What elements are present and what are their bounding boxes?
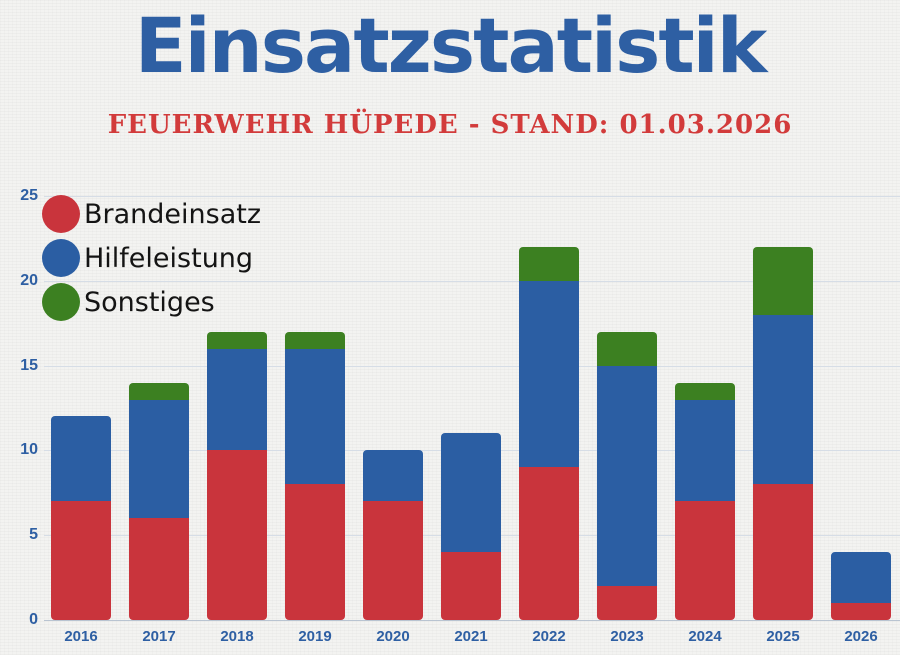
bar-segment-hilfeleistung-2018[interactable] (207, 349, 267, 451)
legend-item-label: Hilfeleistung (84, 243, 253, 274)
legend-item-brandeinsatz[interactable]: Brandeinsatz (42, 192, 261, 236)
bar-segment-hilfeleistung-2017[interactable] (129, 400, 189, 519)
bar-stack[interactable] (207, 332, 267, 620)
y-tick-label-15: 15 (0, 357, 38, 375)
x-tick-label-2020: 2020 (363, 628, 423, 645)
bar-segment-hilfeleistung-2019[interactable] (285, 349, 345, 485)
bar-segment-brandeinsatz-2017[interactable] (129, 518, 189, 620)
bar-segment-sonstiges-2025[interactable] (753, 247, 813, 315)
bar-stack[interactable] (285, 332, 345, 620)
bar-segment-brandeinsatz-2024[interactable] (675, 501, 735, 620)
bar-stack[interactable] (51, 416, 111, 620)
y-tick-label-5: 5 (0, 526, 38, 544)
legend-item-label: Brandeinsatz (84, 199, 261, 230)
bar-segment-hilfeleistung-2022[interactable] (519, 281, 579, 468)
x-tick-label-2026: 2026 (831, 628, 891, 645)
bar-segment-brandeinsatz-2025[interactable] (753, 484, 813, 620)
x-tick-label-2016: 2016 (51, 628, 111, 645)
gridline-0 (44, 620, 900, 621)
bar-segment-hilfeleistung-2021[interactable] (441, 433, 501, 552)
bar-segment-brandeinsatz-2016[interactable] (51, 501, 111, 620)
bar-segment-hilfeleistung-2024[interactable] (675, 400, 735, 502)
circle-swatch-icon (42, 283, 80, 321)
bar-stack[interactable] (831, 552, 891, 620)
bar-segment-hilfeleistung-2025[interactable] (753, 315, 813, 485)
bar-stack[interactable] (363, 450, 423, 620)
bar-segment-sonstiges-2024[interactable] (675, 383, 735, 400)
y-tick-label-10: 10 (0, 441, 38, 459)
bar-segment-sonstiges-2022[interactable] (519, 247, 579, 281)
x-tick-label-2025: 2025 (753, 628, 813, 645)
bar-segment-sonstiges-2023[interactable] (597, 332, 657, 366)
chart-legend: BrandeinsatzHilfeleistungSonstiges (42, 192, 261, 324)
bar-segment-brandeinsatz-2023[interactable] (597, 586, 657, 620)
bar-segment-hilfeleistung-2016[interactable] (51, 416, 111, 501)
bar-segment-brandeinsatz-2022[interactable] (519, 467, 579, 620)
bar-segment-sonstiges-2017[interactable] (129, 383, 189, 400)
bar-segment-sonstiges-2019[interactable] (285, 332, 345, 349)
bar-segment-hilfeleistung-2026[interactable] (831, 552, 891, 603)
x-tick-label-2017: 2017 (129, 628, 189, 645)
bar-segment-brandeinsatz-2020[interactable] (363, 501, 423, 620)
y-tick-label-20: 20 (0, 272, 38, 290)
circle-swatch-icon (42, 239, 80, 277)
bar-segment-hilfeleistung-2023[interactable] (597, 366, 657, 586)
y-tick-label-0: 0 (0, 611, 38, 629)
x-tick-label-2022: 2022 (519, 628, 579, 645)
x-tick-label-2018: 2018 (207, 628, 267, 645)
bar-stack[interactable] (753, 247, 813, 620)
x-tick-label-2024: 2024 (675, 628, 735, 645)
bar-segment-sonstiges-2018[interactable] (207, 332, 267, 349)
x-tick-label-2023: 2023 (597, 628, 657, 645)
bar-stack[interactable] (597, 332, 657, 620)
y-tick-label-25: 25 (0, 187, 38, 205)
bar-segment-brandeinsatz-2026[interactable] (831, 603, 891, 620)
bar-stack[interactable] (441, 433, 501, 620)
bar-stack[interactable] (675, 383, 735, 620)
bar-segment-brandeinsatz-2019[interactable] (285, 484, 345, 620)
legend-item-hilfeleistung[interactable]: Hilfeleistung (42, 236, 261, 280)
chart-page: Einsatzstatistik FEUERWEHR HÜPEDE - STAN… (0, 0, 900, 655)
legend-item-label: Sonstiges (84, 287, 215, 318)
plot-area: 0510152025 20162017201820192020202120222… (0, 0, 900, 655)
bar-stack[interactable] (129, 383, 189, 620)
legend-item-sonstiges[interactable]: Sonstiges (42, 280, 261, 324)
x-tick-label-2021: 2021 (441, 628, 501, 645)
bar-segment-brandeinsatz-2021[interactable] (441, 552, 501, 620)
circle-swatch-icon (42, 195, 80, 233)
bar-segment-hilfeleistung-2020[interactable] (363, 450, 423, 501)
bar-segment-brandeinsatz-2018[interactable] (207, 450, 267, 620)
x-tick-label-2019: 2019 (285, 628, 345, 645)
bar-stack[interactable] (519, 247, 579, 620)
